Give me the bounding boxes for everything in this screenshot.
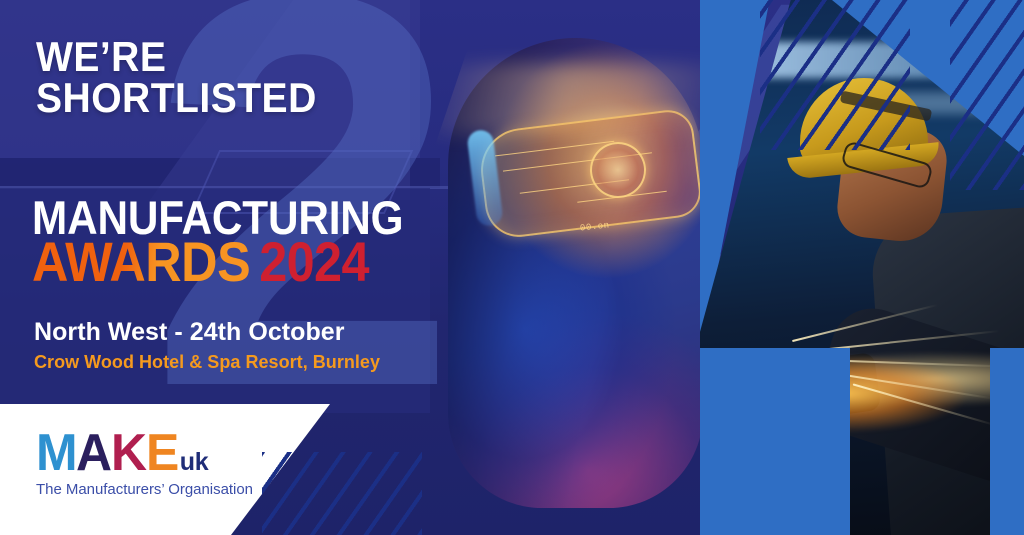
logo-letter-e: E [146, 428, 177, 478]
award-title-block: MANUFACTURING AWARDS2024 [32, 196, 452, 288]
logo-wordmark: M A K E [36, 428, 178, 478]
title-row-2: AWARDS2024 [32, 237, 410, 287]
ar-visor-face-photo: 00.on [430, 0, 730, 535]
shortlisted-line-2: SHORTLISTED [36, 77, 371, 118]
event-region-date: North West - 24th October [34, 318, 345, 347]
logo-letter-m: M [36, 428, 75, 478]
title-awards: AWARDS [32, 230, 250, 293]
diagonal-stripes-far-right [950, 0, 1024, 190]
make-uk-logo: M A K E uk [36, 428, 208, 478]
logo-letter-k: K [111, 428, 144, 478]
shortlisted-line-1: WE’RE [36, 33, 166, 80]
title-year: 2024 [259, 230, 369, 293]
awards-shortlisted-banner: 2 4 00.on [0, 0, 1024, 535]
logo-letter-a: A [76, 428, 109, 478]
blue-block-bottom-left [700, 348, 850, 535]
logo-tagline: The Manufacturers’ Organisation [36, 481, 253, 498]
diagonal-stripes-top-right [760, 0, 910, 150]
shortlisted-headline: WE’RE SHORTLISTED [36, 36, 371, 118]
blue-block-bottom-right [990, 348, 1024, 535]
diagonal-stripes-bottom-left [262, 452, 422, 535]
event-venue: Crow Wood Hotel & Spa Resort, Burnley [34, 352, 380, 373]
logo-suffix-uk: uk [180, 448, 209, 477]
